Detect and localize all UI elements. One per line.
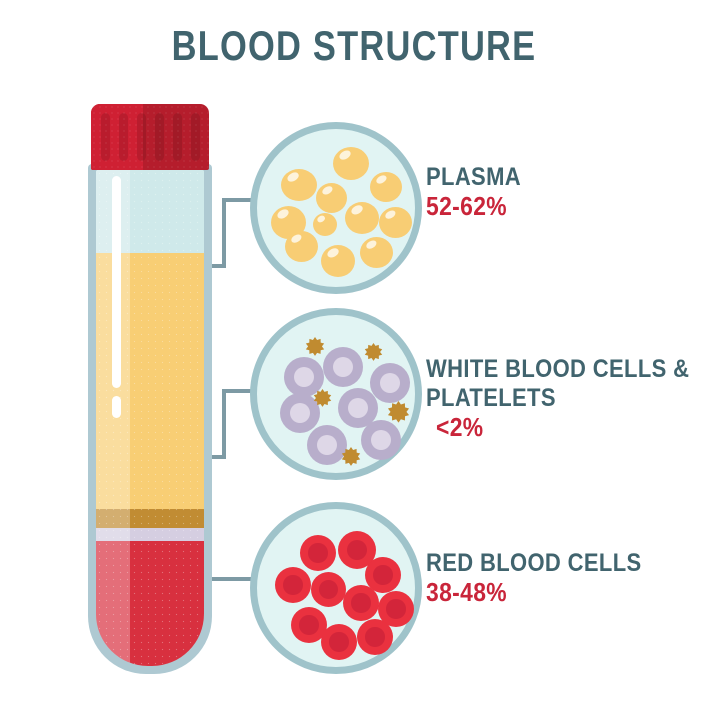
- platelet: [341, 447, 361, 467]
- callout-label-rbc: RED BLOOD CELLS 38-48%: [426, 549, 671, 608]
- wbc-nucleus: [290, 403, 311, 424]
- rbc-center: [373, 565, 392, 584]
- wbc-nucleus: [333, 357, 354, 378]
- plasma-droplet: [321, 245, 355, 277]
- plasma-droplet: [379, 207, 412, 238]
- tube-glass-highlight-small: [112, 396, 121, 418]
- plasma-droplet: [360, 237, 393, 268]
- wbc-nucleus: [380, 373, 401, 394]
- red-blood-cell: [343, 585, 379, 621]
- red-blood-cell: [321, 624, 357, 660]
- callout-label-wbc-platelets: WHITE BLOOD CELLS & PLATELETS <2%: [426, 355, 708, 442]
- wbc-nucleus: [348, 398, 369, 419]
- red-blood-cells-circle: [250, 502, 422, 674]
- callout-name-rbc: RED BLOOD CELLS: [426, 549, 642, 578]
- tube-shade-platelet: [96, 528, 130, 541]
- rbc-center: [386, 599, 405, 618]
- plasma-droplet: [285, 231, 318, 262]
- connector-plasma-vertical: [222, 198, 226, 268]
- plasma-droplet: [313, 213, 337, 236]
- callout-name-plasma: PLASMA: [426, 163, 521, 192]
- red-blood-cell-layer: [96, 541, 204, 666]
- tube-shade-rbc: [96, 541, 130, 666]
- rbc-center: [347, 540, 368, 561]
- rbc-center: [365, 627, 384, 646]
- wbc-nucleus: [294, 367, 315, 388]
- red-blood-cell: [275, 567, 311, 603]
- red-blood-cell: [357, 619, 393, 655]
- connector-wbc-vertical: [222, 389, 226, 459]
- plasma-droplet: [333, 147, 369, 180]
- white-blood-cell: [323, 347, 363, 387]
- red-blood-cell: [300, 535, 336, 571]
- platelet-layer: [96, 528, 204, 541]
- red-blood-cell: [311, 572, 346, 607]
- platelet: [364, 343, 383, 362]
- rbc-center: [299, 615, 318, 634]
- rbc-center: [283, 575, 302, 594]
- tube-shade-buffy: [96, 509, 130, 528]
- plasma-droplet: [370, 172, 402, 202]
- rbc-center: [319, 580, 338, 599]
- plasma-droplet: [345, 202, 379, 234]
- rbc-center: [308, 543, 327, 562]
- callout-name-wbc-line1: WHITE BLOOD CELLS &: [426, 355, 689, 384]
- wbc-nucleus: [371, 430, 392, 451]
- callout-label-plasma: PLASMA 52-62%: [426, 163, 534, 222]
- plasma-droplets-circle: [250, 122, 422, 294]
- callout-value-plasma: 52-62%: [426, 192, 521, 222]
- tube-glass-highlight: [112, 176, 121, 388]
- callout-value-rbc: 38-48%: [426, 578, 642, 608]
- platelet: [387, 401, 410, 424]
- rbc-center: [329, 632, 348, 651]
- platelet: [313, 389, 332, 408]
- callout-value-wbc: <2%: [436, 413, 691, 443]
- white-blood-cell: [361, 420, 401, 460]
- blood-sample-test-tube: [88, 104, 212, 674]
- callout-name-wbc-line2: PLATELETS: [426, 384, 689, 413]
- infographic-canvas: BLOOD STRUCTURE: [0, 0, 708, 708]
- white-blood-cell: [370, 363, 410, 403]
- white-blood-cells-circle: [250, 308, 422, 480]
- plasma-droplet: [281, 169, 317, 201]
- rbc-center: [351, 593, 370, 612]
- wbc-nucleus: [317, 435, 338, 456]
- platelet: [305, 337, 325, 357]
- plasma-droplet: [316, 183, 347, 213]
- buffy-coat-layer: [96, 509, 204, 528]
- red-stopper-cap: [91, 104, 209, 170]
- page-title: BLOOD STRUCTURE: [64, 22, 645, 70]
- cap-texture-dots: [91, 104, 209, 170]
